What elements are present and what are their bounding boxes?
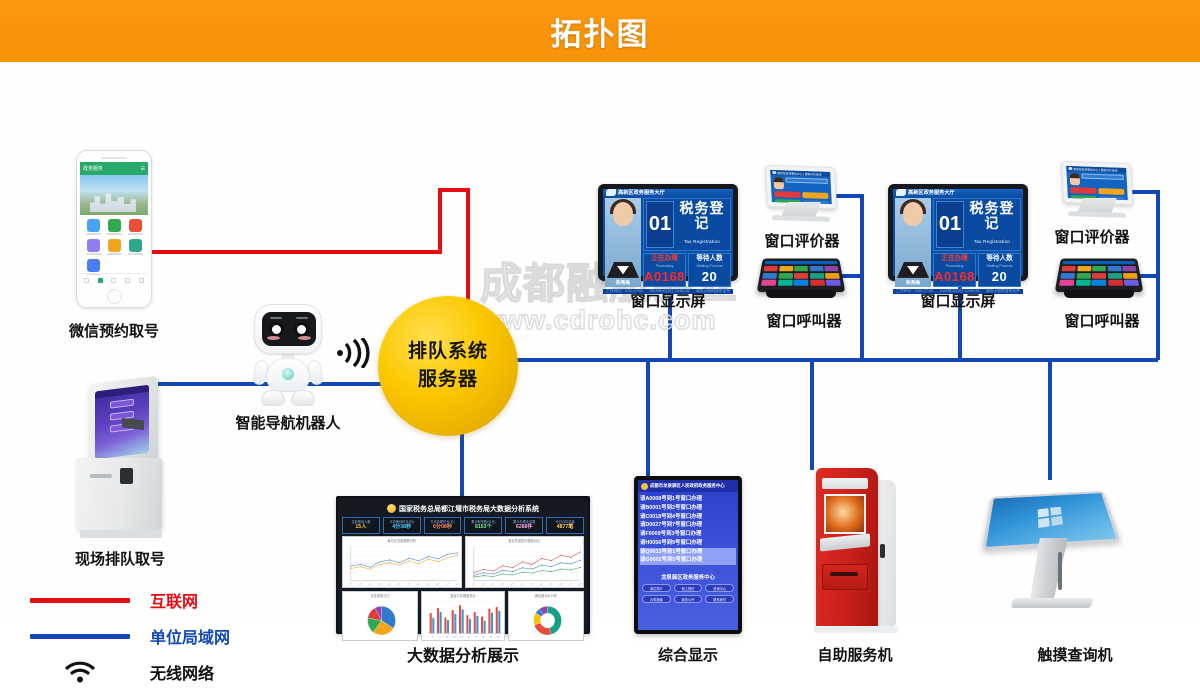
queue-call-line: 请A0008号到1号窗口办理 (640, 495, 736, 504)
label-self-service: 自助服务机 (780, 644, 930, 665)
evaluator-logo-icon (772, 171, 776, 174)
caller-keypad[interactable] (1059, 266, 1139, 286)
phone-screen: 政务服务☰ (80, 162, 148, 286)
touch-query-slot (1058, 552, 1062, 590)
staff-photo: 陈秀梅 (895, 198, 931, 287)
svg-text:5日: 5日 (387, 583, 391, 587)
caller-key[interactable] (763, 266, 777, 271)
dashboard-title-row: 国家税务总局都江堰市税务局大数据分析系统 (342, 502, 584, 515)
window-stats: 正在办理 Processing A0168 等待人数 Waiting Perso… (933, 253, 1021, 287)
wire-lan-drop-selfservice (810, 358, 814, 470)
evaluator-staff-row (1066, 171, 1127, 187)
window-display-right: 01 税务登记 Tax Registration 正在办理 Processing… (643, 198, 731, 287)
tab-news-icon[interactable] (111, 278, 116, 283)
caller-key[interactable] (762, 273, 777, 279)
window-number: 01 (646, 201, 674, 248)
svg-text:9月: 9月 (548, 582, 553, 587)
touch-query-base (1011, 598, 1094, 608)
caller-key[interactable] (794, 280, 809, 286)
svg-text:12日: 12日 (455, 582, 460, 586)
comprehensive-buttons[interactable]: 单位简介 网上预约 咨询中心 办事指南 政务公开 联系我们 (638, 584, 738, 607)
window-display-main: 陈秀梅 01 税务登记 Tax Registration 正在办理 Proces… (893, 196, 1023, 289)
legend-item-lan: 单位局域网 (30, 618, 270, 654)
waiting-label-en: Waiting Persons (979, 264, 1020, 268)
kpi-card: 累计办理业务数 6288件 (505, 517, 543, 534)
kiosk-card-reader (120, 468, 133, 484)
chart-title: 每日业务量趋势分析 (343, 538, 461, 543)
window-caller-2[interactable] (1058, 252, 1140, 302)
legend-label-wireless: 无线网络 (150, 660, 214, 684)
chart-title: 各业务类型办理量对比 (466, 538, 584, 543)
phone-app-item[interactable] (84, 219, 102, 235)
window-display-screen-1[interactable]: 高新区政务服务大厅 陈秀梅 01 税务登记 Tax Registration (598, 184, 738, 281)
queue-call-line: 请F0009号到3号窗口办理 (640, 530, 736, 539)
kpi-value: 4分38秒 (384, 524, 420, 531)
svg-text:3日: 3日 (368, 583, 372, 587)
service-name-en: Tax Registration (974, 239, 1010, 244)
caller-key[interactable] (1092, 273, 1106, 279)
window-service: 税务登记 Tax Registration (966, 201, 1018, 248)
evaluator-button-satisfied[interactable] (1098, 188, 1124, 195)
wechat-phone-mockup[interactable]: 政务服务☰ (76, 150, 152, 308)
hall-name: 高新区政务服务大厅 (618, 189, 665, 196)
waiting-label-cn: 等待人数 (979, 255, 1020, 263)
line-chart-trend: 1日2日3日4日5日6日7日8日9日10日11日12日 (343, 544, 461, 586)
caller-key[interactable] (826, 280, 841, 286)
hall-name: 高新区政务服务大厅 (908, 189, 955, 196)
caller-key[interactable] (1092, 266, 1106, 271)
caller-key[interactable] (761, 280, 776, 286)
queue-call-line: 请C0018号到4号窗口办理 (640, 513, 736, 522)
caller-key[interactable] (1108, 280, 1123, 286)
caller-key[interactable] (1107, 273, 1121, 279)
svg-text:10月: 10月 (557, 582, 563, 587)
caller-key[interactable] (824, 266, 838, 271)
kiosk-base (80, 530, 162, 538)
svg-text:4日: 4日 (377, 583, 381, 587)
caller-key[interactable] (1059, 280, 1074, 286)
evaluator-banner (786, 177, 828, 183)
chart-panel-compare: 各业务类型办理量对比 1月2月3月4月5月6月7月8月9月10月11月12月 (465, 536, 585, 588)
kpi-value: 4877笔 (547, 524, 583, 531)
evaluator-staff-photo (774, 177, 785, 189)
phone-speaker (101, 157, 127, 159)
kpi-value: 6分08秒 (425, 524, 461, 531)
svg-text:11月: 11月 (567, 582, 573, 587)
navigation-robot[interactable] (248, 304, 328, 408)
svg-text:11日: 11日 (445, 582, 450, 586)
legend-line-lan (30, 634, 130, 639)
label-caller-1: 窗口呼叫器 (736, 310, 872, 331)
wifi-signal-icon (336, 338, 370, 373)
chart-panel-window-stats: 各窗口办理量统计 1号2号3号4号5号6号7号8号9号10号 (421, 591, 505, 641)
window-evaluator-2[interactable]: 高新区政务服务中心 | 服务评价系统 (1060, 162, 1136, 218)
phone-hero-image (80, 175, 148, 215)
topology-canvas: 成都融航实业 www.cdrohc.com 政务服务☰ (0, 62, 1200, 621)
queue-call-line: 请D0027号到7号窗口办理 (640, 521, 736, 530)
line-chart-compare: 1月2月3月4月5月6月7月8月9月10月11月12月 (466, 544, 584, 586)
svg-text:6日: 6日 (397, 583, 401, 587)
comprehensive-button[interactable]: 办事指南 (642, 595, 671, 603)
comprehensive-display[interactable]: 成都市龙泉驿区人民政府政务服务中心 请A0008号到1号窗口办理 请B0001号… (634, 476, 742, 634)
processing-label-cn: 正在办理 (934, 255, 975, 263)
window-stats: 正在办理 Processing A0168 等待人数 Waiting Perso… (643, 253, 731, 287)
svg-text:7日: 7日 (407, 583, 411, 587)
bar-chart-window-stats: 1号2号3号4号5号6号7号8号9号10号 (422, 599, 504, 639)
waiting-cell: 等待人数 Waiting Persons 20 (978, 253, 1021, 287)
window-display-content: 高新区政务服务大厅 陈秀梅 01 税务登记 Tax Registration (893, 189, 1023, 276)
phone-app-item[interactable] (105, 219, 123, 235)
caller-base (766, 290, 836, 298)
waiting-label-en: Waiting Persons (689, 264, 730, 268)
svg-text:10号: 10号 (496, 635, 500, 639)
evaluator-screen[interactable]: 高新区政务服务中心 | 服务评价系统 (770, 170, 832, 204)
pie-chart-type-share (343, 599, 417, 639)
kpi-card: 今日办件总量 4877笔 (546, 517, 584, 534)
label-bigdata: 大数据分析展示 (378, 642, 548, 666)
waiting-cell: 等待人数 Waiting Persons 20 (688, 253, 731, 287)
processing-label-en: Processing (644, 264, 685, 268)
caller-display (1063, 261, 1136, 264)
svg-text:2月: 2月 (480, 582, 485, 587)
svg-text:8日: 8日 (416, 583, 420, 587)
window-display-content: 高新区政务服务大厅 陈秀梅 01 税务登记 Tax Registration (603, 189, 733, 276)
svg-text:9号: 9号 (490, 635, 493, 639)
evaluator-button-satisfied[interactable] (802, 192, 828, 199)
kpi-value: 15人 (343, 524, 379, 531)
legend-item-wireless: 无线网络 (30, 654, 270, 690)
caller-key[interactable] (1122, 266, 1136, 271)
evaluator-base (1068, 211, 1126, 218)
window-caller-1[interactable] (760, 252, 842, 302)
phone-appbar: 政务服务☰ (80, 162, 148, 175)
chart-title: 业务类型占比 (343, 593, 417, 598)
caller-key[interactable] (810, 280, 825, 286)
cloud-icon (87, 219, 100, 232)
caller-key[interactable] (1076, 273, 1090, 279)
caller-key[interactable] (809, 273, 823, 279)
caller-key[interactable] (1123, 273, 1138, 279)
evaluator-button-very-satisfied[interactable] (1070, 187, 1096, 194)
kiosk-cabinet (76, 458, 162, 530)
comprehensive-header-text: 成都市龙泉驿区人民政府政务服务中心 (650, 483, 725, 489)
ssm-output-slot (830, 572, 858, 576)
caller-key[interactable] (825, 273, 840, 279)
svg-text:3月: 3月 (490, 582, 495, 587)
doc-icon (87, 239, 100, 252)
self-service-machine[interactable] (810, 468, 902, 634)
evaluator-screen[interactable]: 高新区政务服务中心 | 服务评价系统 (1066, 166, 1128, 200)
comprehensive-button[interactable]: 政务公开 (674, 595, 703, 603)
ssm-base (814, 626, 898, 633)
evaluator-logo-icon (1068, 167, 1072, 170)
legend-wifi-icon (30, 661, 130, 683)
wire-internet-riser (438, 188, 442, 252)
hall-logo-icon (606, 189, 616, 196)
server-label-line2: 服务器 (418, 366, 478, 394)
touch-query-column (1030, 538, 1068, 600)
queue-call-list: 请A0008号到1号窗口办理 请B0001号到2号窗口办理 请C0018号到4号… (638, 492, 738, 567)
caller-key[interactable] (778, 273, 792, 279)
processing-label-en: Processing (934, 264, 975, 268)
robot-head (254, 304, 322, 354)
service-name-cn: 税务登记 (676, 201, 728, 230)
comprehensive-button[interactable]: 咨询中心 (705, 584, 734, 592)
tab-home-icon[interactable] (84, 278, 89, 283)
kpi-value: 8153个 (465, 524, 501, 531)
kiosk-ticket-slot (90, 474, 112, 478)
comprehensive-button[interactable]: 单位简介 (642, 584, 671, 592)
caller-key[interactable] (1092, 280, 1107, 286)
caller-key[interactable] (1077, 266, 1091, 271)
comprehensive-subtitle: 龙泉驿区政务服务中心 (638, 567, 738, 584)
kpi-card: 平均办理时长(分) 6分08秒 (424, 517, 462, 534)
phone-app-item[interactable] (105, 239, 123, 255)
robot-eye-left (269, 322, 284, 337)
card-icon (129, 239, 142, 252)
processing-label-cn: 正在办理 (644, 255, 685, 263)
svg-text:5月: 5月 (509, 582, 514, 587)
phone-home-button[interactable] (107, 289, 122, 304)
label-window-display-1: 窗口显示屏 (586, 290, 750, 311)
waiting-label-cn: 等待人数 (689, 255, 730, 263)
svg-text:8月: 8月 (538, 582, 543, 587)
legend: 互联网 单位局域网 无线网络 (30, 582, 270, 690)
svg-text:3号: 3号 (446, 635, 449, 639)
label-comprehensive: 综合显示 (616, 644, 760, 665)
window-display-screen-2[interactable]: 高新区政务服务大厅 陈秀梅 01 税务登记 Tax Registration (888, 184, 1028, 281)
svg-text:6号: 6号 (468, 635, 471, 639)
tab-service-icon[interactable] (98, 278, 103, 283)
svg-text:7月: 7月 (528, 582, 533, 587)
svg-text:2日: 2日 (358, 583, 362, 587)
svg-text:9日: 9日 (426, 583, 430, 587)
dashboard-title: 国家税务总局都江堰市税务局大数据分析系统 (399, 504, 539, 514)
svg-text:12月: 12月 (577, 582, 583, 587)
comprehensive-button[interactable]: 联系我们 (705, 595, 734, 603)
queue-system-server[interactable]: 排队系统 服务器 (378, 296, 518, 436)
chart-panel-trend: 每日业务量趋势分析 1日2日3日4日5日6日7日8日9日10日11日12日 (342, 536, 462, 588)
waiting-value: 20 (992, 269, 1007, 284)
phone-app-grid (80, 215, 148, 275)
caller-key[interactable] (794, 266, 808, 271)
caller-key[interactable] (1124, 280, 1139, 286)
legend-label-internet: 互联网 (150, 588, 198, 612)
caller-key[interactable] (1075, 280, 1090, 286)
legend-line-internet (30, 598, 130, 603)
ssm-top-light (822, 478, 868, 489)
phone-app-item[interactable] (126, 219, 144, 235)
staff-name: 陈秀梅 (895, 280, 931, 287)
label-evaluator-1: 窗口评价器 (734, 230, 870, 251)
window-number: 01 (936, 201, 964, 248)
evaluator-button-very-satisfied[interactable] (774, 191, 800, 198)
caller-key[interactable] (1061, 266, 1075, 271)
folder-icon (108, 219, 121, 232)
svg-text:1日: 1日 (348, 583, 352, 587)
phone-app-item[interactable] (84, 239, 102, 255)
robot-foot-left (261, 390, 285, 406)
robot-foot-right (291, 390, 315, 406)
server-label-line1: 排队系统 (408, 338, 488, 366)
window-service-row: 01 税务登记 Tax Registration (643, 198, 731, 251)
page-title: 拓扑图 (551, 9, 650, 54)
window-display-header: 高新区政务服务大厅 (893, 189, 1023, 196)
chart-panel-satisfaction: 满意度评价分布 (508, 591, 584, 641)
queue-call-line-highlighted: 请Q0013号到1号窗口办理 (640, 548, 736, 557)
donut-chart-satisfaction (509, 599, 583, 639)
window-display-header: 高新区政务服务大厅 (603, 189, 733, 196)
window-service-row: 01 税务登记 Tax Registration (933, 198, 1021, 251)
svg-text:6月: 6月 (519, 582, 524, 587)
svg-text:5号: 5号 (460, 635, 463, 639)
phone-tabbar[interactable] (80, 273, 148, 286)
onsite-ticket-kiosk[interactable] (70, 380, 170, 540)
processing-cell: 正在办理 Processing A0168 (933, 253, 976, 287)
wire-lan-drop-comprehensive (646, 358, 650, 478)
caller-key[interactable] (794, 273, 808, 279)
kpi-card: 累计取号数(今日) 8153个 (464, 517, 502, 534)
svg-text:1月: 1月 (470, 582, 475, 587)
processing-cell: 正在办理 Processing A0168 (643, 253, 686, 287)
svg-text:1号: 1号 (431, 635, 434, 639)
comprehensive-header: 成都市龙泉驿区人民政府政务服务中心 (638, 480, 738, 492)
label-window-display-2: 窗口显示屏 (876, 290, 1040, 311)
caller-body[interactable] (757, 258, 846, 292)
dashboard-row-1: 每日业务量趋势分析 1日2日3日4日5日6日7日8日9日10日11日12日 各业… (342, 536, 584, 588)
label-robot: 智能导航机器人 (208, 412, 368, 433)
caller-key[interactable] (779, 266, 793, 271)
window-display-main: 陈秀梅 01 税务登记 Tax Registration 正在办理 Proces… (603, 196, 733, 289)
caller-base (1064, 290, 1134, 298)
windows-logo-icon (1037, 507, 1065, 530)
queue-call-line: 请H0056号到9号窗口办理 (640, 539, 736, 548)
label-wechat: 微信预约取号 (38, 320, 190, 341)
ssm-service-door (822, 564, 868, 590)
caller-key[interactable] (1060, 273, 1075, 279)
tab-query-icon[interactable] (125, 278, 130, 283)
caller-keypad[interactable] (761, 266, 841, 286)
processing-value: A0168 (934, 269, 975, 284)
robot-eye-right (294, 322, 309, 337)
chart-title: 各窗口办理量统计 (422, 593, 504, 598)
svg-text:4月: 4月 (499, 582, 504, 587)
service-name-cn: 税务登记 (966, 201, 1018, 230)
label-onsite-ticket: 现场排队取号 (34, 548, 206, 569)
service-name-en: Tax Registration (684, 239, 720, 244)
comprehensive-button[interactable]: 网上预约 (674, 584, 703, 592)
dashboard-kpis: 当前等待人数 15人 平均等待时长(分) 4分38秒 平均办理时长(分) 6分0… (342, 517, 584, 534)
processing-value: A0168 (644, 269, 685, 284)
wire-internet-phone-horizontal (150, 250, 442, 254)
svg-text:7号: 7号 (475, 635, 478, 639)
queue-call-line-highlighted: 请G0002号到5号窗口办理 (640, 556, 736, 565)
wire-internet-server-drop (466, 188, 470, 306)
label-touch-query: 触摸查询机 (1000, 644, 1150, 665)
window-evaluator-1[interactable]: 高新区政务服务中心 | 服务评价系统 (764, 166, 840, 222)
caller-key[interactable] (809, 266, 823, 271)
chart-title: 满意度评价分布 (509, 593, 583, 598)
staff-photo: 陈秀梅 (605, 198, 641, 287)
evaluator-banner (1082, 173, 1124, 179)
page-header: 拓扑图 (0, 0, 1200, 62)
caller-body[interactable] (1055, 258, 1144, 292)
wire-lan-drop-touchquery (1048, 358, 1052, 480)
bigdata-dashboard[interactable]: 国家税务总局都江堰市税务局大数据分析系统 当前等待人数 15人 平均等待时长(分… (336, 496, 590, 634)
phone-app-item[interactable] (126, 239, 144, 255)
chat-icon (129, 219, 142, 232)
window-service: 税务登记 Tax Registration (676, 201, 728, 248)
kpi-value: 6288件 (506, 524, 542, 531)
robot-blush-left (267, 336, 280, 340)
kiosk-screen-header (95, 385, 149, 399)
hall-logo-icon (896, 189, 906, 196)
svg-text:10日: 10日 (435, 582, 440, 586)
tax-logo-icon (387, 504, 396, 513)
evaluator-staff-photo (1070, 173, 1081, 185)
svg-text:2号: 2号 (438, 635, 441, 639)
caller-key[interactable] (1107, 266, 1121, 271)
caller-key[interactable] (777, 280, 792, 286)
wire-lan-main-bus (470, 358, 1158, 362)
legend-item-internet: 互联网 (30, 582, 270, 618)
caller-display (765, 261, 838, 264)
government-logo-icon (641, 483, 648, 490)
waiting-value: 20 (702, 269, 717, 284)
comprehensive-screen: 成都市龙泉驿区人民政府政务服务中心 请A0008号到1号窗口办理 请B0001号… (638, 480, 738, 630)
kiosk-screen-button[interactable] (110, 399, 134, 409)
legend-label-lan: 单位局域网 (150, 624, 230, 648)
chart-panel-type-share: 业务类型占比 (342, 591, 418, 641)
ssm-screen[interactable] (824, 494, 866, 534)
tab-profile-icon[interactable] (139, 278, 144, 283)
queue-call-line: 请B0001号到2号窗口办理 (640, 504, 736, 513)
evaluator-base (772, 215, 830, 222)
robot-blush-right (298, 336, 311, 340)
bell-icon (108, 239, 121, 252)
kpi-card: 平均等待时长(分) 4分38秒 (383, 517, 421, 534)
svg-text:8号: 8号 (482, 635, 485, 639)
ssm-card-slot (880, 544, 885, 558)
robot-brow-left (270, 317, 282, 319)
robot-brow-right (296, 317, 308, 319)
evaluator-staff-row (770, 175, 831, 191)
label-caller-2: 窗口呼叫器 (1032, 310, 1172, 331)
robot-chest-light (282, 368, 294, 380)
svg-text:4号: 4号 (453, 635, 456, 639)
touch-query-kiosk[interactable] (988, 476, 1124, 634)
kpi-card: 当前等待人数 15人 (342, 517, 380, 534)
dashboard-row-2: 业务类型占比 各窗口办理量统计 1号2号3号4号5号6号7号8号9号10号 满意… (342, 591, 584, 641)
list-icon (87, 259, 100, 272)
staff-name: 陈秀梅 (605, 280, 641, 287)
label-evaluator-2: 窗口评价器 (1022, 226, 1162, 247)
window-display-right: 01 税务登记 Tax Registration 正在办理 Processing… (933, 198, 1021, 287)
robot-face-screen (262, 312, 316, 346)
